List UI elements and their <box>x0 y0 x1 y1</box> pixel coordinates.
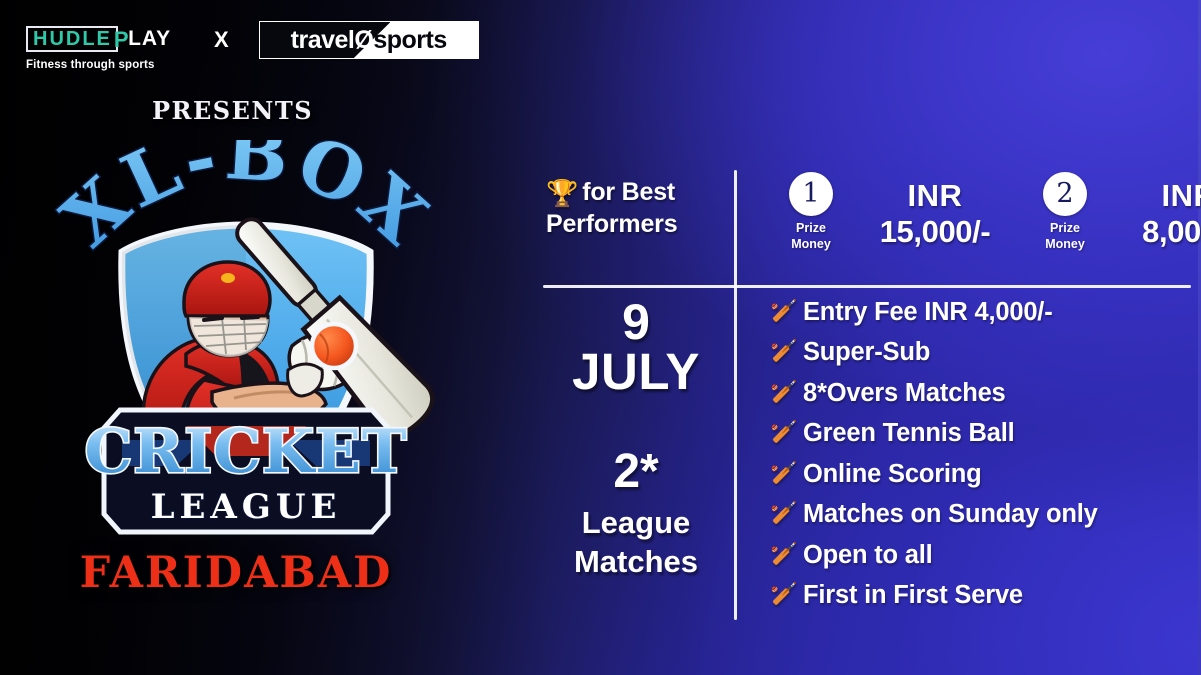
cricket-bat-icon: 🏏 <box>770 501 796 526</box>
prize-value: 15,000/- <box>880 214 991 249</box>
event-date-day: 9 <box>543 298 729 346</box>
promo-poster: HUDLE P LAY Fitness through sports X tra… <box>0 0 1201 675</box>
collaboration-x-icon: X <box>214 27 229 53</box>
prize-label-line-2: Money <box>1045 237 1085 251</box>
hudleplay-logo-icon: HUDLE P LAY <box>26 26 176 52</box>
sports-word: sports <box>373 26 446 54</box>
oslash-icon: Ø <box>354 26 373 54</box>
league-matches-label: League Matches <box>543 504 729 582</box>
prize-rank-number: 2 <box>1043 172 1087 216</box>
travel-word: travel <box>291 26 355 54</box>
travelosports-wordmark: travelØsports <box>260 21 478 59</box>
prize-rank-badge: 2 Prize Money <box>1009 172 1121 253</box>
prize-rank-number: 1 <box>789 172 833 216</box>
prize-label-line-1: Prize <box>1050 221 1080 235</box>
feature-item-label: Green Tennis Ball <box>803 419 1015 448</box>
feature-item-label: 8*Overs Matches <box>803 379 1006 408</box>
date-and-matches-column: 9 JULY 2* League Matches <box>543 298 729 582</box>
cricket-batsman-emblem-icon: XL-BOX CRICKET LEAGUE <box>36 140 456 540</box>
league-matches-count: 2* <box>543 448 729 496</box>
trophy-icon: 🏆 <box>546 179 578 209</box>
header-logo-row: HUDLE P LAY Fitness through sports X tra… <box>0 16 520 80</box>
cricket-bat-icon: 🏏 <box>770 542 796 567</box>
feature-item-label: First in First Serve <box>803 581 1023 610</box>
hudle-p-glyph: P <box>114 29 129 51</box>
features-list: 🏏Entry Fee INR 4,000/-🏏Super-Sub🏏8*Overs… <box>770 292 1098 616</box>
feature-item-label: Entry Fee INR 4,000/- <box>803 298 1052 327</box>
feature-item: 🏏8*Overs Matches <box>770 373 1098 414</box>
feature-item: 🏏First in First Serve <box>770 576 1098 617</box>
presents-label: PRESENTS <box>152 96 313 125</box>
cricket-bat-icon: 🏏 <box>770 380 796 405</box>
league-matches-label-line-1: League <box>582 505 691 540</box>
event-date-month: JULY <box>543 346 729 398</box>
prize-value: 8,000/- <box>1142 214 1201 249</box>
prize-amount-2: INR 8,000/- <box>1121 178 1201 250</box>
prize-currency: INR <box>1121 178 1201 214</box>
emblem-title-league: LEAGUE <box>151 487 342 527</box>
hudle-boxed-wordmark: HUDLE <box>26 26 118 52</box>
feature-item-label: Super-Sub <box>803 338 930 367</box>
best-performers-line-2: Performers <box>546 210 677 238</box>
prize-rank-badge: 1 Prize Money <box>755 172 867 253</box>
feature-item-label: Matches on Sunday only <box>803 500 1098 529</box>
cricket-bat-icon: 🏏 <box>770 420 796 445</box>
hudle-play-word: LAY <box>128 28 171 49</box>
horizontal-divider <box>543 285 1191 288</box>
prize-label-line-1: Prize <box>796 221 826 235</box>
feature-item: 🏏Open to all <box>770 535 1098 576</box>
cricket-bat-icon: 🏏 <box>770 582 796 607</box>
feature-item: 🏏Matches on Sunday only <box>770 495 1098 536</box>
prize-currency: INR <box>867 178 1003 214</box>
prize-money-label: Prize Money <box>755 220 867 253</box>
prize-label-line-2: Money <box>791 237 831 251</box>
vertical-divider <box>734 170 737 620</box>
travelosports-logo-icon: travelØsports <box>259 21 479 59</box>
hudleplay-brand: HUDLE P LAY Fitness through sports <box>26 26 176 71</box>
cricket-bat-icon: 🏏 <box>770 299 796 324</box>
cricket-bat-icon: 🏏 <box>770 461 796 486</box>
city-name: FARIDABAD <box>36 548 436 598</box>
cricket-bat-icon: 🏏 <box>770 339 796 364</box>
prize-entry-1: 1 Prize Money INR 15,000/- <box>755 172 1003 253</box>
feature-item: 🏏Entry Fee INR 4,000/- <box>770 292 1098 333</box>
best-performers-line-1: for Best <box>582 178 675 206</box>
feature-item: 🏏Green Tennis Ball <box>770 414 1098 455</box>
feature-item-label: Open to all <box>803 541 933 570</box>
feature-item: 🏏Online Scoring <box>770 454 1098 495</box>
prize-amount-1: INR 15,000/- <box>867 178 1003 250</box>
prize-money-group: 1 Prize Money INR 15,000/- 2 Prize Money <box>755 172 1201 253</box>
prize-entry-2: 2 Prize Money INR 8,000/- <box>1009 172 1201 253</box>
feature-item: 🏏Super-Sub <box>770 333 1098 374</box>
best-performers-heading: 🏆for Best Performers <box>546 178 726 239</box>
league-matches-label-line-2: Matches <box>574 544 698 579</box>
emblem-title-cricket: CRICKET <box>85 417 408 487</box>
hudleplay-tagline: Fitness through sports <box>26 59 176 71</box>
prize-money-label: Prize Money <box>1009 220 1121 253</box>
feature-item-label: Online Scoring <box>803 460 982 489</box>
hudle-word: HUDLE <box>33 29 112 49</box>
